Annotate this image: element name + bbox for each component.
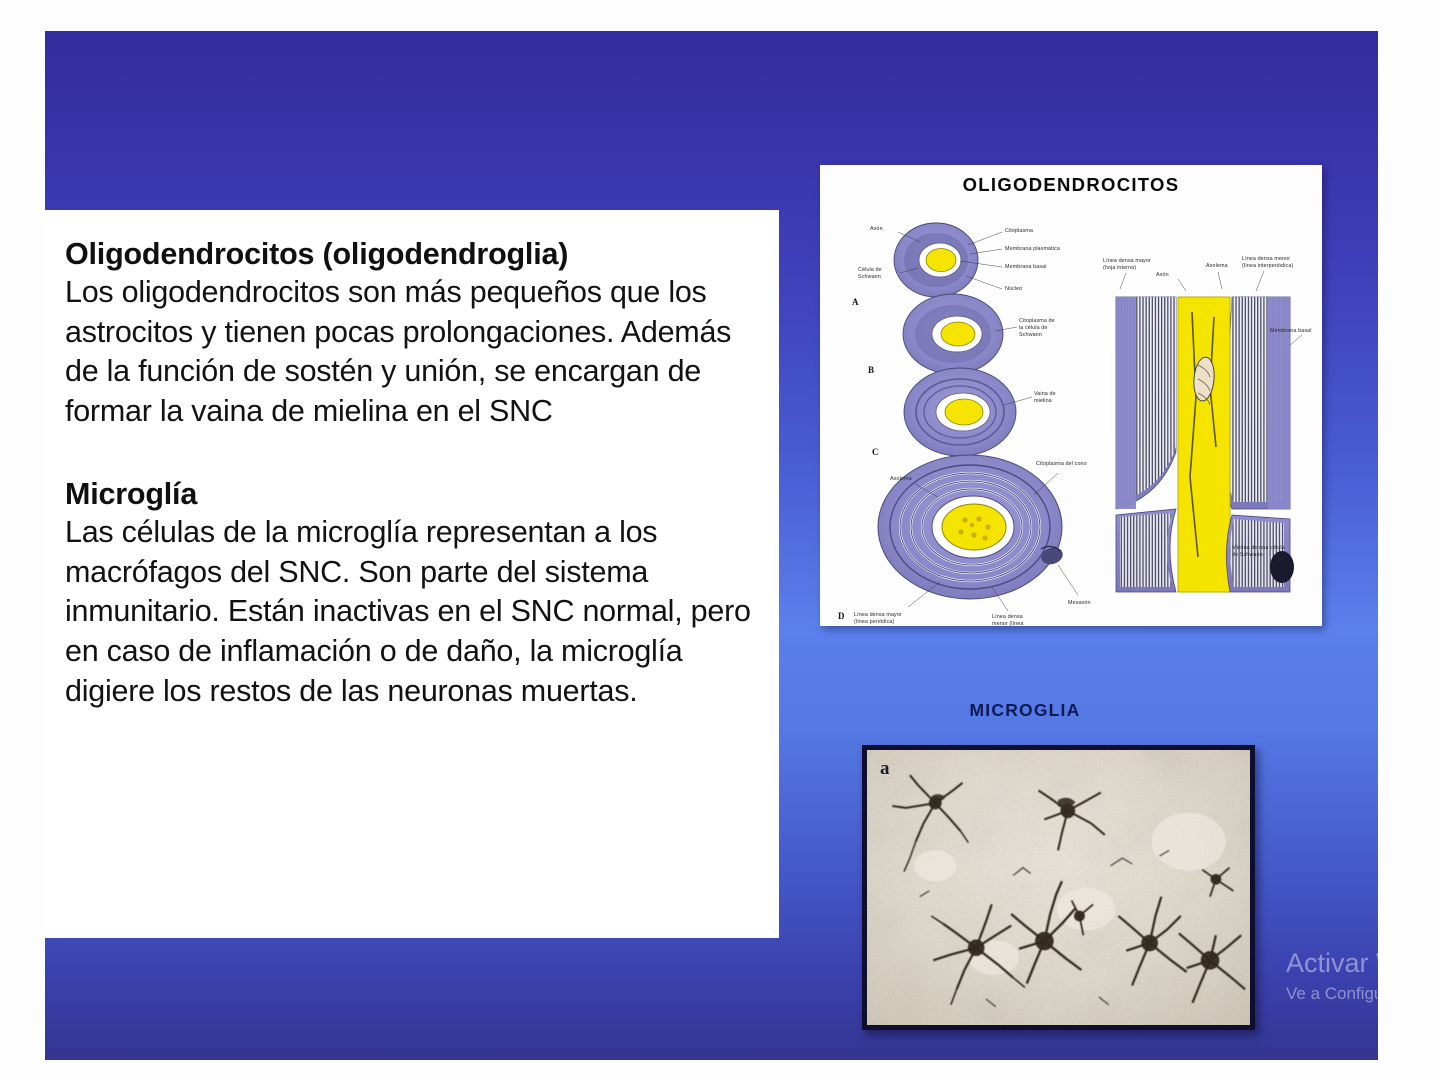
oligo-label-cytoplasm: Citoplasma: [1005, 228, 1033, 234]
oligodendrocyte-diagram-figure: OLIGODENDROCITOS: [820, 165, 1322, 626]
oligo-label-axolemma: Axolema: [890, 476, 912, 482]
oligo-label-myelin-sheath-2: mielina: [1034, 398, 1052, 404]
oligo-panel-letter-b: B: [868, 365, 874, 375]
microglia-figure-title: MICROGLIA: [875, 700, 1175, 721]
activation-watermark-subtitle: Ve a Configuración para activar Windows.: [1286, 984, 1378, 1004]
windows-activation-watermark: Activar Windows Ve a Configuración para …: [1286, 948, 1378, 1026]
microglia-panel-letter: a: [880, 758, 890, 780]
oligodendrocytes-body: Los oligodendrocitos son más pequeños qu…: [65, 273, 761, 432]
oligo-label-nucleus: Núcleo: [1005, 286, 1022, 292]
oligo-node-of-ranvier-panel: Línea densa mayor (hoja interna) Axón Ax…: [1103, 256, 1312, 592]
oligo-label-mesaxon: Mesaxón: [1068, 600, 1091, 606]
oligo-label-cone-cytoplasm-1: Citoplasma del cono: [1036, 461, 1087, 467]
oligodendrocyte-diagram-title: OLIGODENDROCITOS: [820, 174, 1322, 196]
oligo-label-schwann-cytoplasm-1: Citoplasma de: [1019, 318, 1055, 324]
presentation-slide: Oligodendrocitos (oligodendroglia) Los o…: [45, 31, 1378, 1060]
screenshot-root: Oligodendrocitos (oligodendroglia) Los o…: [0, 0, 1440, 1080]
oligo-label-minor-dense-line-1: Línea densa: [992, 614, 1023, 620]
oligo-panel-letter-c: C: [872, 447, 879, 457]
oligo-label-major-dense-line-2: (línea periódica): [854, 619, 894, 625]
oligo-label-schwann-cell-2: Schwann: [858, 274, 881, 280]
oligo-label-basal-membrane: Membrana basal: [1005, 264, 1047, 270]
oligo-label-minor-dense-line-right-2: (línea interperiódica): [1242, 263, 1293, 269]
oligo-panel-letter-d: D: [838, 611, 845, 621]
oligo-label-schwann-myelin-1: Mielina de una célula: [1232, 545, 1285, 551]
oligo-label-plasma-membrane: Membrana plasmática: [1005, 246, 1060, 252]
oligo-label-minor-dense-line-2: menor (línea: [992, 621, 1023, 626]
oligo-label-axon: Axón: [870, 226, 883, 232]
oligo-label-major-dense-line-right-2: (hoja interna): [1103, 265, 1136, 271]
oligodendrocyte-diagram-canvas: Axón Célula de Schwann Citoplasma Membra…: [820, 197, 1322, 626]
oligo-label-myelin-sheath-1: Vaina de: [1034, 391, 1056, 397]
oligo-label-axon-right: Axón: [1156, 272, 1169, 278]
oligo-label-basal-membrane-right: Membrana basal: [1270, 328, 1312, 334]
microglia-photomicrograph: a: [862, 745, 1255, 1030]
oligo-label-minor-dense-line-right-1: Línea densa menor: [1242, 256, 1290, 262]
content-text-panel: Oligodendrocitos (oligodendroglia) Los o…: [45, 210, 779, 938]
microglia-heading: Microglía: [65, 476, 761, 513]
oligo-label-schwann-cytoplasm-2: la célula de: [1019, 325, 1047, 331]
oligo-label-axolemma-right: Axolema: [1206, 263, 1228, 269]
oligo-label-schwann-cell: Célula de: [858, 267, 882, 273]
oligo-panel-letter-a: A: [852, 297, 859, 307]
microglia-photo-canvas: [867, 750, 1250, 1025]
activation-watermark-title: Activar Windows: [1286, 948, 1378, 979]
oligo-label-schwann-myelin-2: de Schwann: [1232, 552, 1263, 558]
oligo-label-schwann-cytoplasm-3: Schwann: [1019, 332, 1042, 338]
oligodendrocytes-heading: Oligodendrocitos (oligodendroglia): [65, 236, 761, 273]
microglia-body: Las células de la microglía representan …: [65, 513, 761, 711]
oligo-label-major-dense-line-1: Línea densa mayor: [854, 612, 902, 618]
paragraph-spacer: [65, 432, 761, 476]
oligo-label-major-dense-line-right-1: Línea densa mayor: [1103, 258, 1151, 264]
